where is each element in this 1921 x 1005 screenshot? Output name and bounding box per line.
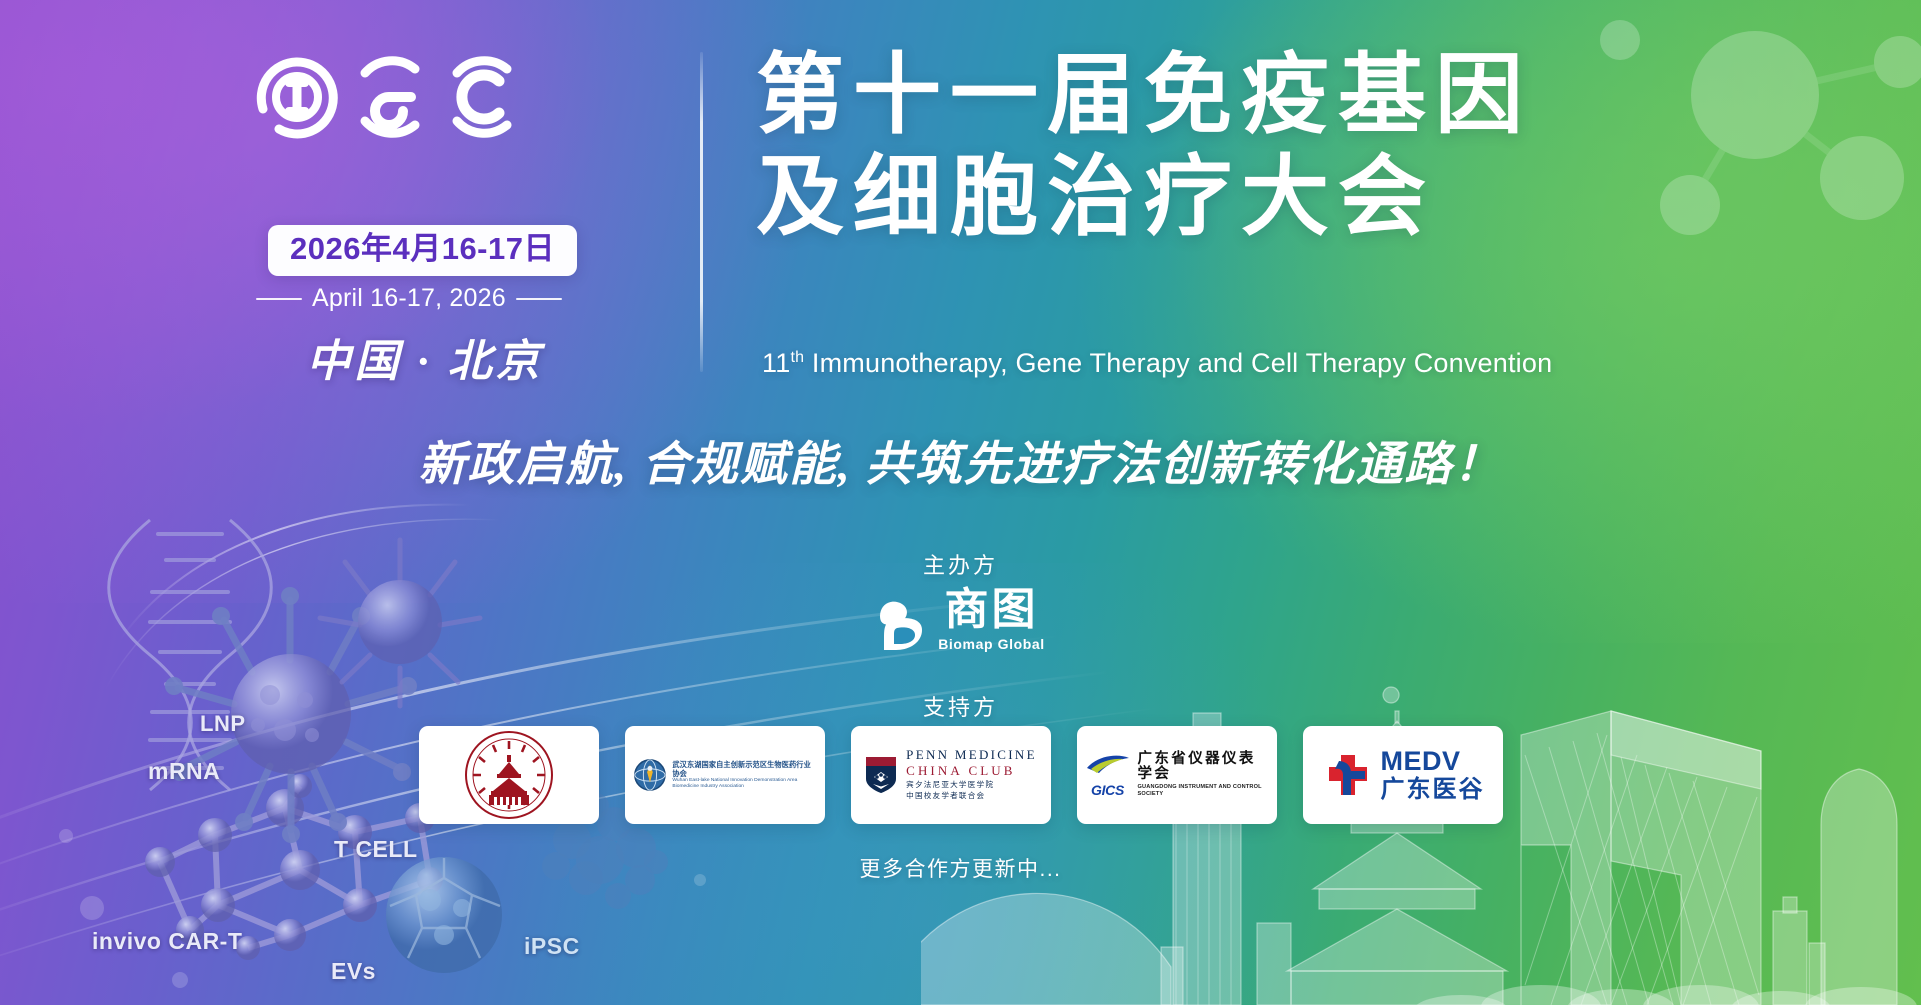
- title-en-sup: th: [790, 349, 804, 366]
- city-label: 中国 · 北京: [300, 325, 550, 389]
- organizer-block: 主办方 商图 Biomap Global: [0, 548, 1921, 657]
- date-rule-right: [516, 298, 562, 300]
- supporter-logo-wuhan-university[interactable]: [419, 726, 599, 824]
- date-badge: 2026年4月16-17日: [268, 225, 577, 276]
- wuhan-eastlake-globe-icon: [633, 757, 667, 793]
- wuhan-eastlake-name-cn: 武汉东湖国家自主创新示范区生物医药行业协会: [672, 760, 816, 778]
- penn-name-en-2: CHINA CLUB: [906, 763, 1037, 779]
- supporters-row: 武汉东湖国家自主创新示范区生物医药行业协会 Wuhan East-lake Na…: [0, 726, 1921, 824]
- title-line-1: 第十一届免疫基因: [756, 44, 1816, 146]
- title-english: 11th Immunotherapy, Gene Therapy and Cel…: [762, 348, 1552, 379]
- vertical-divider: [700, 52, 703, 372]
- supporter-logo-penn-medicine-china-club[interactable]: PENN MEDICINE CHINA CLUB 宾夕法尼亚大学医学院 中国校友…: [851, 726, 1051, 824]
- biomap-name-cn: 商图: [945, 588, 1039, 632]
- medv-name-cn: 广东医谷: [1381, 778, 1485, 802]
- supporter-logo-gics[interactable]: GICS 广东省仪器仪表学会 GUANGDONG INSTRUMENT AND …: [1077, 726, 1277, 824]
- bio-label-lnp: LNP: [200, 711, 246, 737]
- supporter-logo-wuhan-eastlake[interactable]: 武汉东湖国家自主创新示范区生物医药行业协会 Wuhan East-lake Na…: [625, 726, 825, 824]
- main-title: 第十一届免疫基因 及细胞治疗大会: [756, 44, 1816, 248]
- date-en-row: April 16-17, 2026: [256, 284, 586, 313]
- medv-name-en: MEDV: [1381, 748, 1485, 775]
- biomap-mark-icon: [876, 596, 928, 652]
- bio-label-mrna: mRNA: [148, 758, 220, 785]
- medv-cross-icon: [1321, 749, 1373, 801]
- logo-letter-c: [457, 61, 507, 134]
- title-en-ordinal: 11: [762, 348, 790, 378]
- supporters-caption: 支持方: [0, 690, 1921, 722]
- date-en: April 16-17, 2026: [312, 284, 506, 313]
- wuhan-eastlake-name-en-2: Biomedicine Industry Association: [672, 784, 816, 790]
- penn-name-cn-1: 宾夕法尼亚大学医学院: [906, 779, 1037, 790]
- penn-name-cn-2: 中国校友学者联合会: [906, 790, 1037, 801]
- penn-shield-icon: [864, 755, 898, 795]
- gics-abbr: GICS: [1085, 782, 1131, 798]
- biomap-logo: 商图 Biomap Global: [876, 588, 1045, 652]
- organizer-caption: 主办方: [0, 548, 1921, 580]
- biomap-text: 商图 Biomap Global: [938, 588, 1045, 652]
- date-rule-left: [256, 298, 302, 300]
- bio-label-invivo-car-t: invivo CAR-T: [92, 928, 242, 955]
- gics-swoosh-icon: [1085, 753, 1131, 777]
- gics-name-en: GUANGDONG INSTRUMENT AND CONTROL SOCIETY: [1138, 784, 1269, 797]
- bio-label-ipsc: iPSC: [524, 933, 580, 960]
- bio-label-evs: EVs: [331, 958, 376, 985]
- title-line-2: 及细胞治疗大会: [756, 146, 1816, 248]
- igc-logo: [249, 47, 554, 143]
- wuhan-university-seal-icon: [463, 729, 555, 821]
- date-cn: 2026年4月16-17日: [290, 231, 555, 266]
- bio-label-tcell: T CELL: [334, 836, 418, 863]
- biomap-name-en: Biomap Global: [938, 636, 1045, 652]
- slogan: 新政启航, 合规赋能, 共筑先进疗法创新转化通路！: [0, 425, 1921, 494]
- logo-letter-i: [261, 62, 333, 134]
- logo-letter-g: [365, 61, 415, 134]
- supporters-more-text: 更多合作方更新中...: [0, 853, 1921, 883]
- penn-name-en-1: PENN MEDICINE: [906, 748, 1037, 763]
- gics-name-cn: 广东省仪器仪表学会: [1138, 752, 1269, 781]
- conference-banner: 2026年4月16-17日 April 16-17, 2026 中国 · 北京 …: [0, 0, 1921, 1005]
- title-en-rest: Immunotherapy, Gene Therapy and Cell The…: [804, 348, 1552, 378]
- supporter-logo-medv[interactable]: MEDV 广东医谷: [1303, 726, 1503, 824]
